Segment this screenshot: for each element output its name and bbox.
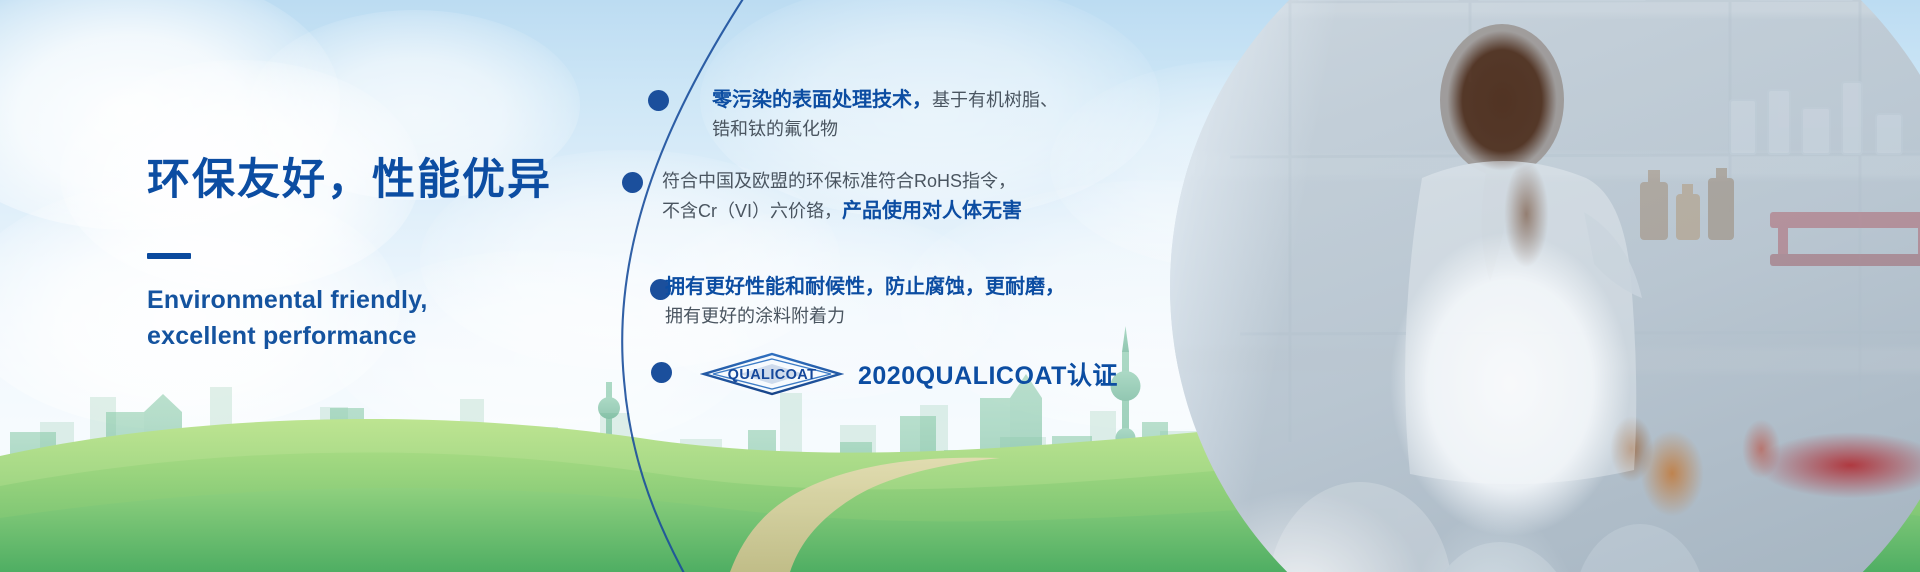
bullet-line-1: 零污染的表面处理技术，基于有机树脂、 (712, 85, 1058, 116)
bullet-dot-icon (622, 172, 643, 193)
qualicoat-certification-label: 2020QUALICOAT认证 (858, 356, 1118, 392)
bullet-body-text: 拥有更好的涂料附着力 (665, 306, 845, 326)
bullet-line-2: 拥有更好的涂料附着力 (665, 303, 1065, 331)
bullet-emphasis-text: 零污染的表面处理技术， (712, 89, 932, 111)
bullet-dot-icon (648, 90, 669, 111)
bullet-body-text: 基于有机树脂、 (932, 90, 1058, 110)
qualicoat-logo-text: QUALICOAT (728, 367, 817, 383)
bullet-line-2: 锆和钛的氟化物 (712, 116, 1058, 144)
bullet-body-text: 不含Cr（VI）六价铬， (662, 201, 842, 221)
bullet-emphasis-text: 产品使用对人体无害 (842, 200, 1022, 222)
qualicoat-logo-icon: QUALICOAT (700, 352, 844, 396)
bullet-body-text: 符合中国及欧盟的环保标准符合RoHS指令， (662, 171, 1016, 191)
bullet-line-2: 不含Cr（VI）六价铬，产品使用对人体无害 (662, 196, 1022, 227)
bullet-line-1: 符合中国及欧盟的环保标准符合RoHS指令， (662, 168, 1022, 196)
feature-bullet-list: 零污染的表面处理技术，基于有机树脂、 锆和钛的氟化物 符合中国及欧盟的环保标准符… (0, 0, 1920, 572)
bullet-emphasis-text: 拥有更好性能和耐候性，防止腐蚀，更耐磨， (665, 276, 1065, 298)
promo-banner: 环保友好，性能优异 Environmental friendly, excell… (0, 0, 1920, 572)
bullet-body-text: 锆和钛的氟化物 (712, 119, 838, 139)
bullet-text-block: 零污染的表面处理技术，基于有机树脂、 锆和钛的氟化物 (712, 85, 1058, 144)
qualicoat-badge: QUALICOAT 2020QUALICOAT认证 (700, 352, 1118, 396)
bullet-dot-icon (651, 362, 672, 383)
bullet-text-block: 拥有更好性能和耐候性，防止腐蚀，更耐磨， 拥有更好的涂料附着力 (665, 272, 1065, 331)
bullet-text-block: 符合中国及欧盟的环保标准符合RoHS指令， 不含Cr（VI）六价铬，产品使用对人… (662, 168, 1022, 227)
bullet-line-1: 拥有更好性能和耐候性，防止腐蚀，更耐磨， (665, 272, 1065, 303)
